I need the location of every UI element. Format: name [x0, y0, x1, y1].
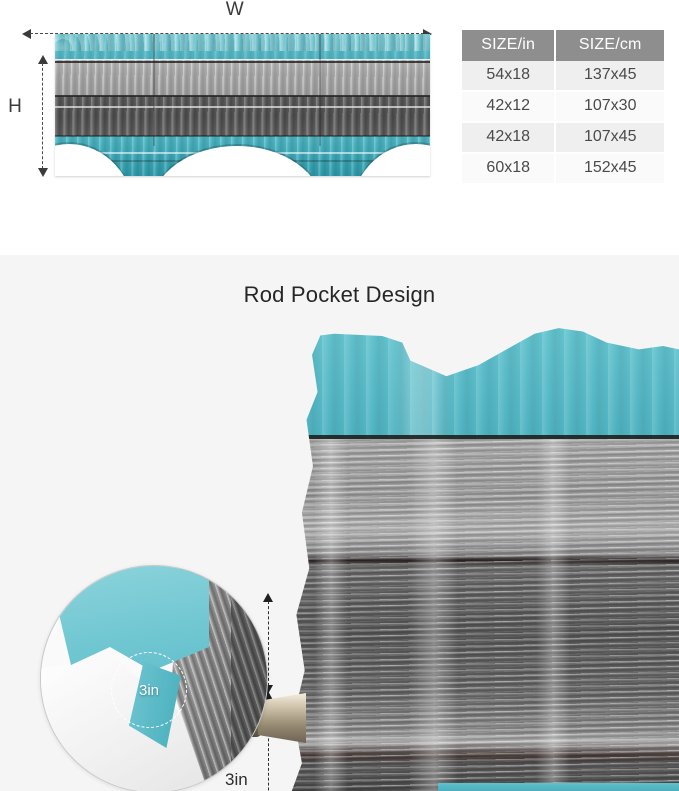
stripe-teal-bottom-edge	[438, 783, 679, 791]
arrow-head-up-icon	[38, 55, 48, 64]
arrow-head-down-icon	[38, 168, 48, 177]
stripe-divider-dark	[55, 95, 430, 97]
curtain-fabric-closeup	[278, 327, 679, 791]
rod-pocket-panel: Rod Pocket Design 1 in 3in	[0, 255, 679, 791]
section-title: Rod Pocket Design	[0, 282, 679, 308]
cell-size-in: 54x18	[462, 61, 555, 91]
fabric-fold	[314, 439, 348, 791]
inset-gray-fabric-dark	[231, 565, 268, 791]
height-dimension-arrow	[38, 55, 48, 177]
arrow-head-left-icon	[22, 29, 31, 39]
stripe-gray-dark	[55, 96, 430, 136]
cell-size-cm: 107x45	[555, 122, 664, 153]
cell-size-in: 60x18	[462, 153, 555, 184]
fabric-sheen	[390, 327, 454, 439]
width-dimension-label: W	[215, 0, 255, 20]
table-header-row: SIZE/in SIZE/cm	[462, 30, 664, 61]
pocket-detail-inset: 3in	[40, 565, 268, 791]
valance-product-image	[55, 34, 430, 176]
fabric-fold	[410, 439, 458, 791]
curtain-body-gray-stripes	[278, 439, 679, 791]
column-header-size-cm: SIZE/cm	[555, 30, 664, 61]
size-chart-table: SIZE/in SIZE/cm 54x18 137x45 42x12 107x3…	[462, 30, 664, 185]
cell-size-in: 42x12	[462, 91, 555, 122]
dashed-line	[42, 63, 43, 169]
valance-dimension-panel: W H	[0, 0, 679, 255]
stripe-gray-light	[55, 60, 430, 96]
stripe-divider-dark	[55, 61, 430, 63]
cell-size-cm: 107x30	[555, 91, 664, 122]
tie-up-seam	[319, 34, 321, 146]
stripe-divider-dark	[55, 135, 430, 137]
valance-fabric	[55, 34, 430, 176]
tie-up-seam	[153, 34, 155, 146]
cell-size-in: 42x18	[462, 122, 555, 153]
rod-pocket-teal-header	[278, 327, 679, 439]
cell-size-cm: 152x45	[555, 153, 664, 184]
height-dimension-label: H	[5, 97, 25, 117]
table-row: 54x18 137x45	[462, 61, 664, 91]
fabric-fold	[536, 439, 570, 791]
stripe-teal-top	[55, 34, 430, 60]
cell-size-cm: 137x45	[555, 61, 664, 91]
table-row: 42x12 107x30	[462, 91, 664, 122]
table-row: 42x18 107x45	[462, 122, 664, 153]
gathered-ruffle-texture	[55, 34, 430, 51]
table-row: 60x18 152x45	[462, 153, 664, 184]
stripe-highlight	[55, 106, 430, 108]
inset-measurement-badge: 3in	[111, 652, 187, 728]
column-header-size-in: SIZE/in	[462, 30, 555, 61]
